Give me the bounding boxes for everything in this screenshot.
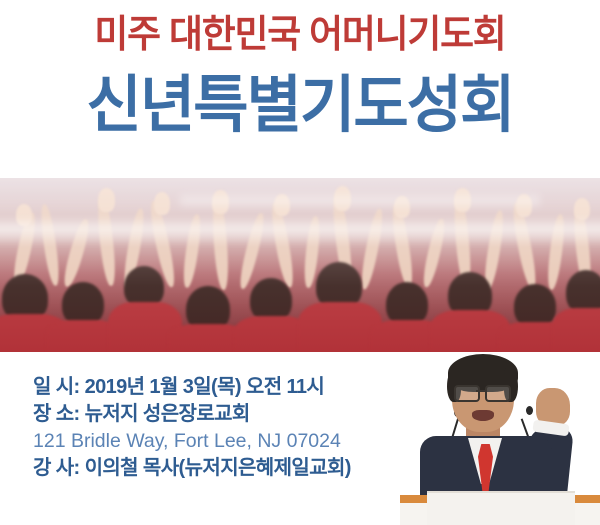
podium bbox=[400, 491, 600, 525]
speaker-photo bbox=[400, 352, 600, 525]
crowd-torso bbox=[552, 308, 600, 352]
podium-front-panel bbox=[427, 491, 575, 525]
info-line-list: 일 시: 2019년 1월 3일(목) 오전 11시 장 소: 뉴저지 성은장로… bbox=[33, 374, 413, 482]
info-datetime: 일 시: 2019년 1월 3일(목) 오전 11시 bbox=[33, 374, 413, 401]
title-block: 미주 대한민국 어머니기도회 신년특별기도성회 bbox=[0, 0, 600, 178]
speaker-mouth bbox=[472, 410, 494, 421]
stage-light-streak bbox=[180, 192, 540, 209]
poster-main-title: 신년특별기도성회 bbox=[9, 68, 591, 144]
microphone-icon bbox=[526, 406, 533, 415]
glasses-icon bbox=[485, 385, 511, 402]
info-address: 121 Bridle Way, Fort Lee, NJ 07024 bbox=[33, 428, 413, 455]
poster-root: 미주 대한민국 어머니기도회 신년특별기도성회 bbox=[0, 0, 600, 525]
glasses-icon bbox=[476, 390, 485, 392]
crowd-photo bbox=[0, 178, 600, 352]
glasses-icon bbox=[454, 385, 480, 402]
stage-light-streak bbox=[0, 216, 600, 244]
info-venue: 장 소: 뉴저지 성은장로교회 bbox=[33, 401, 413, 428]
podium-base bbox=[573, 503, 600, 525]
poster-subtitle: 미주 대한민국 어머니기도회 bbox=[9, 11, 591, 59]
crowd-hand bbox=[98, 188, 115, 212]
podium-base bbox=[400, 503, 429, 525]
info-speaker: 강 사: 이의철 목사(뉴저지은혜제일교회) bbox=[33, 455, 413, 482]
crowd-hand bbox=[154, 192, 170, 215]
